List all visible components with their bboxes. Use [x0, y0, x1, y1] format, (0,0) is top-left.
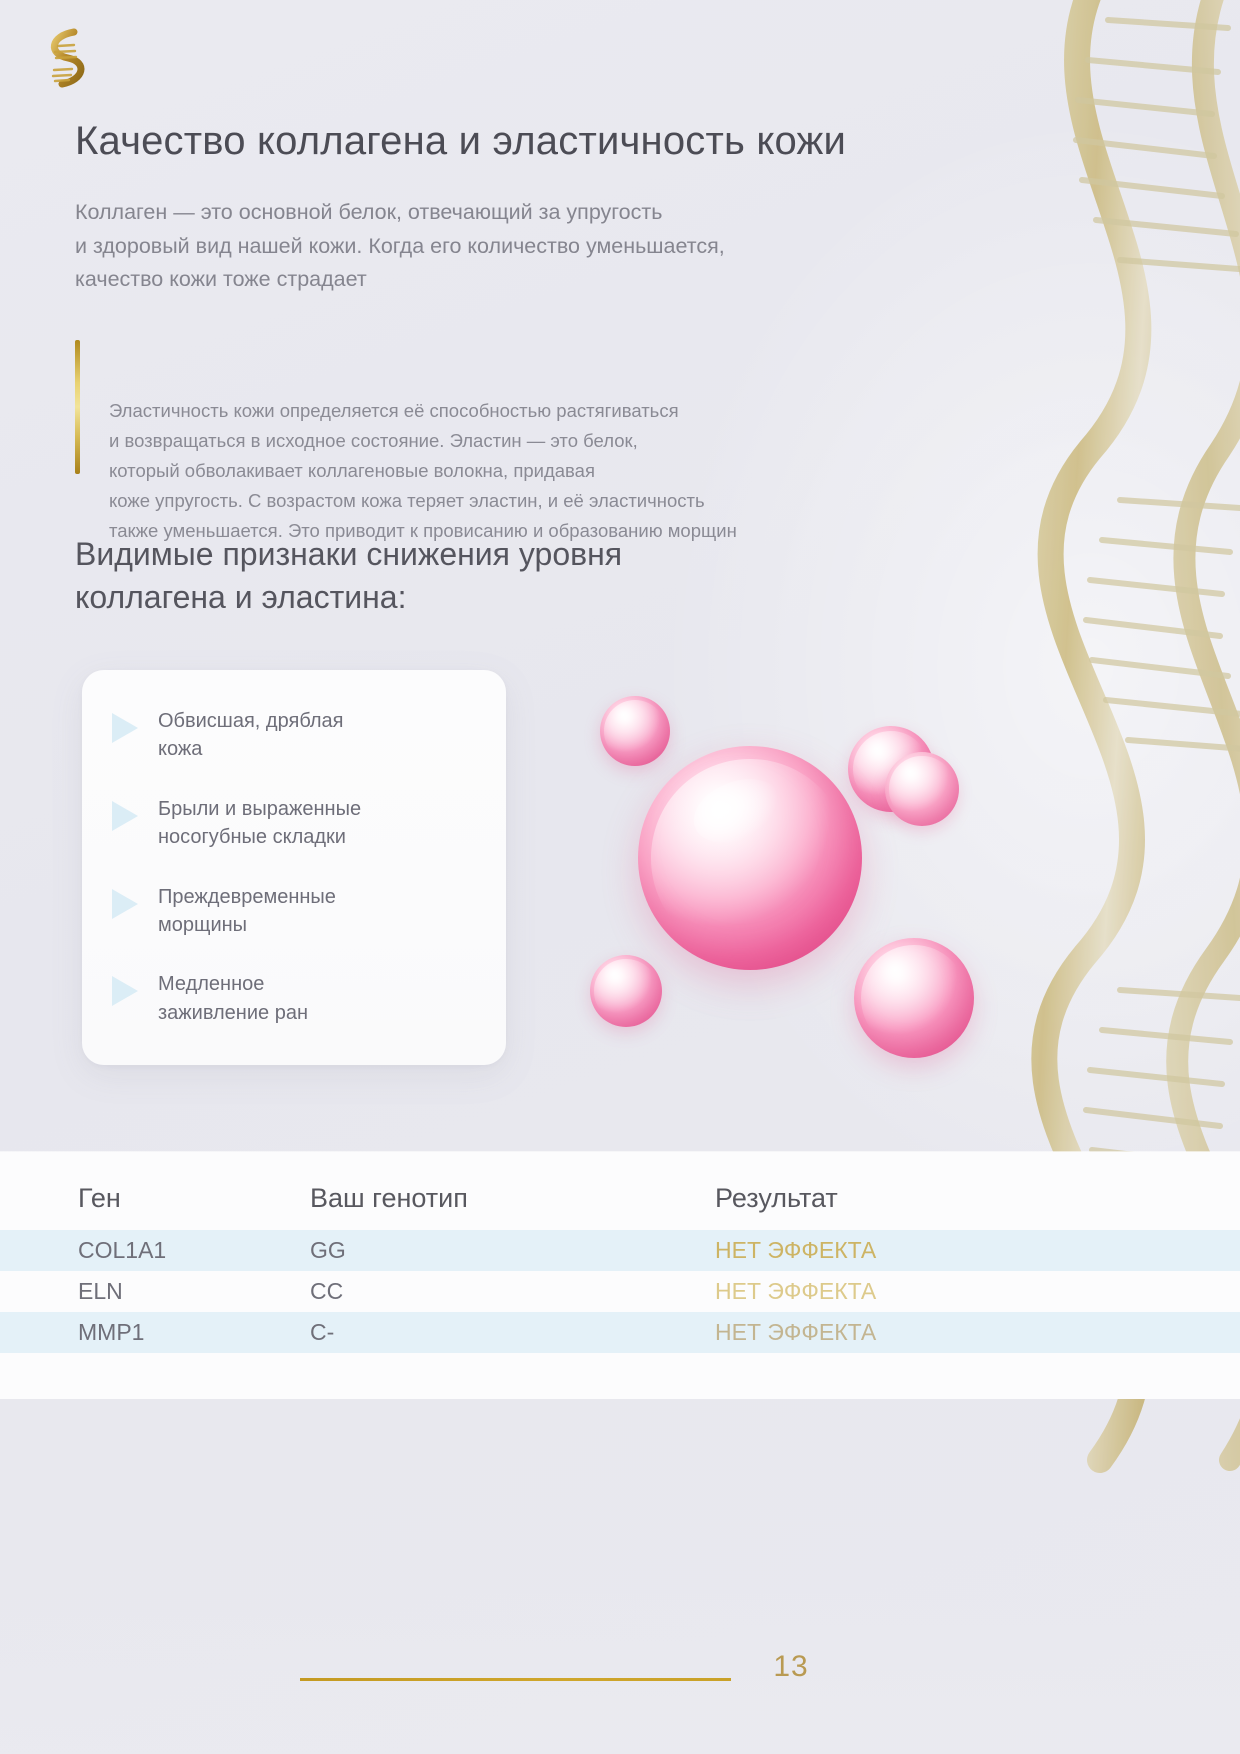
bubble-small-top-left	[600, 696, 670, 766]
table-row: ELN CC НЕТ ЭФФЕКТА	[0, 1271, 1240, 1312]
cell-result: НЕТ ЭФФЕКТА	[715, 1237, 1240, 1264]
table-top-padding	[0, 1152, 1240, 1166]
pink-bubbles-illustration	[560, 640, 1030, 1100]
table-header-row: Ген Ваш генотип Результат	[0, 1166, 1240, 1230]
bubble-medium-bottom-right	[854, 938, 974, 1058]
cell-result: НЕТ ЭФФЕКТА	[715, 1319, 1240, 1346]
signs-list: Обвисшая, дряблая кожа Брыли и выраженны…	[108, 704, 488, 1027]
page-number: 13	[731, 1650, 851, 1684]
cell-genotype: GG	[310, 1237, 715, 1264]
quote-block: Эластичность кожи определяется её способ…	[75, 336, 979, 546]
list-item: Преждевременные морщины	[108, 880, 488, 940]
quote-text: Эластичность кожи определяется её способ…	[109, 400, 737, 541]
triangle-bullet-icon	[112, 713, 138, 743]
report-page: Качество коллагена и эластичность кожи К…	[0, 0, 1240, 1754]
list-item-label: Медленное заживление ран	[158, 967, 308, 1027]
list-item-label: Брыли и выраженные носогубные складки	[158, 792, 361, 852]
cell-genotype: C-	[310, 1319, 715, 1346]
list-item-label: Обвисшая, дряблая кожа	[158, 704, 344, 764]
intro-paragraph: Коллаген — это основной белок, отвечающи…	[75, 196, 975, 297]
genotype-results-table: Ген Ваш генотип Результат COL1A1 GG НЕТ …	[0, 1152, 1240, 1399]
cell-gene: COL1A1	[0, 1237, 310, 1264]
section-heading: Видимые признаки снижения уровня коллаге…	[75, 533, 895, 618]
table-row: COL1A1 GG НЕТ ЭФФЕКТА	[0, 1230, 1240, 1271]
signs-card: Обвисшая, дряблая кожа Брыли и выраженны…	[82, 670, 506, 1065]
bubble-small-bottom-left	[590, 955, 662, 1027]
list-item: Медленное заживление ран	[108, 967, 488, 1027]
triangle-bullet-icon	[112, 976, 138, 1006]
list-item: Обвисшая, дряблая кожа	[108, 704, 488, 764]
column-header-gene: Ген	[0, 1183, 310, 1214]
triangle-bullet-icon	[112, 801, 138, 831]
quote-accent-bar	[75, 340, 80, 474]
dna-helix-logo-icon	[34, 24, 98, 92]
column-header-genotype: Ваш генотип	[310, 1183, 715, 1214]
cell-genotype: CC	[310, 1278, 715, 1305]
list-item: Брыли и выраженные носогубные складки	[108, 792, 488, 852]
cell-result: НЕТ ЭФФЕКТА	[715, 1278, 1240, 1305]
cell-gene: ELN	[0, 1278, 310, 1305]
table-row: MMP1 C- НЕТ ЭФФЕКТА	[0, 1312, 1240, 1353]
page-title: Качество коллагена и эластичность кожи	[75, 118, 975, 165]
cell-gene: MMP1	[0, 1319, 310, 1346]
footer-rule	[300, 1678, 731, 1681]
bubble-main	[638, 746, 862, 970]
bubble-small-top-right	[885, 752, 959, 826]
triangle-bullet-icon	[112, 889, 138, 919]
table-bottom-padding	[0, 1353, 1240, 1399]
list-item-label: Преждевременные морщины	[158, 880, 336, 940]
column-header-result: Результат	[715, 1183, 1240, 1214]
